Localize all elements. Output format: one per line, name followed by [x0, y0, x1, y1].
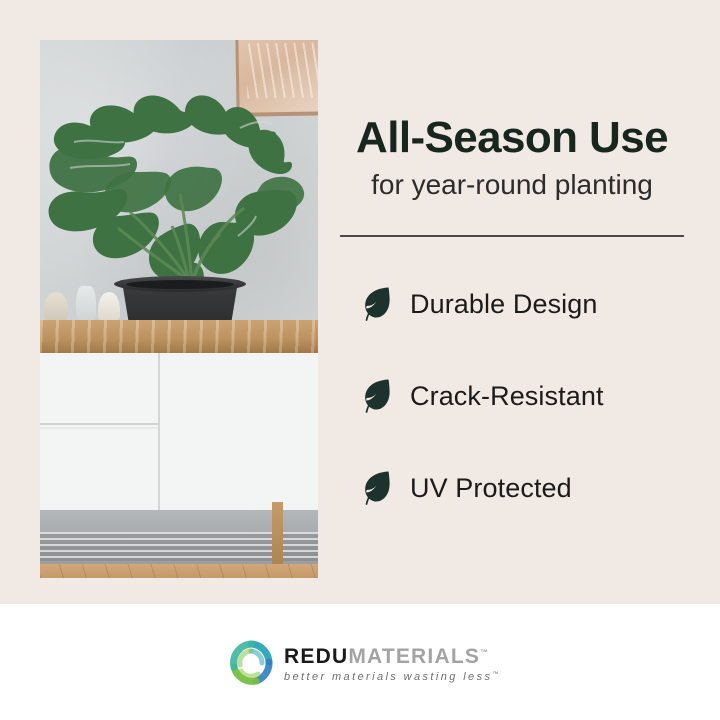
feature-item: UV Protected: [362, 442, 686, 534]
photo-decor-vase-white: [98, 292, 120, 322]
infographic-canvas: All-Season Use for year-round planting D…: [0, 0, 720, 720]
logo-tagline-trademark-symbol: ™: [492, 671, 498, 677]
photo-cabinet-seam-vertical: [158, 353, 160, 510]
product-lifestyle-photo: [40, 40, 318, 578]
logo-word-row: REDUMATERIALS™: [284, 646, 498, 667]
photo-wood-countertop: [40, 320, 318, 353]
photo-wood-floor: [40, 564, 318, 578]
feature-list: Durable Design Crack-Resistant UV Protec…: [362, 258, 686, 534]
leaf-icon: [362, 378, 392, 414]
photo-white-sideboard: [40, 353, 318, 510]
logo-trademark-symbol: ™: [480, 648, 488, 657]
subheadline: for year-round planting: [338, 170, 686, 201]
feature-label: Durable Design: [410, 289, 598, 320]
logo-wordmark: REDUMATERIALS™ better materials wasting …: [284, 644, 498, 683]
feature-label: Crack-Resistant: [410, 381, 604, 412]
redu-swirl-logo-icon: [228, 640, 274, 686]
leaf-icon: [362, 286, 392, 322]
photo-decor-glass-bottle: [76, 286, 96, 322]
brand-logo: REDUMATERIALS™ better materials wasting …: [228, 636, 498, 690]
feature-label: UV Protected: [410, 473, 572, 504]
logo-word-redu: REDU: [284, 645, 348, 668]
photo-decor-vase-beige: [44, 292, 68, 322]
logo-tagline-row: better materials wasting less™: [284, 671, 498, 683]
content-panel: All-Season Use for year-round planting D…: [338, 40, 686, 578]
divider-rule: [340, 235, 684, 237]
logo-tagline: better materials wasting less: [284, 671, 492, 683]
feature-item: Crack-Resistant: [362, 350, 686, 442]
photo-planter-pot-inner: [126, 280, 234, 289]
headline: All-Season Use: [338, 116, 686, 160]
feature-item: Durable Design: [362, 258, 686, 350]
logo-word-materials: MATERIALS: [348, 645, 480, 668]
photo-cabinet-seam-horizontal: [40, 427, 158, 429]
photo-cabinet-seam-horizontal: [40, 423, 158, 425]
leaf-icon: [362, 470, 392, 506]
